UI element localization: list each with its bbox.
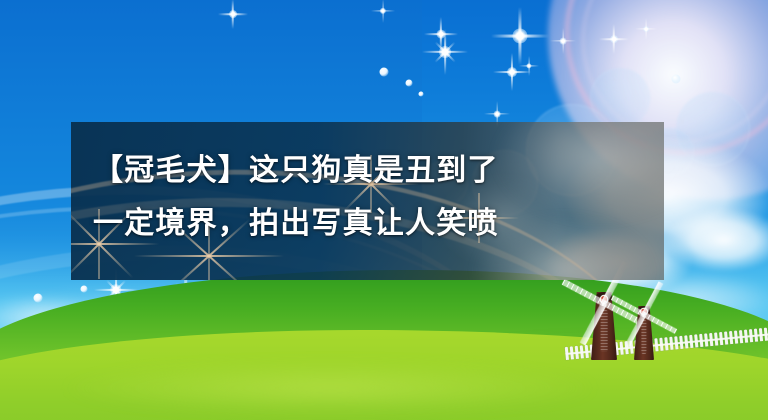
windmill-large xyxy=(591,292,617,360)
windmill-ladder xyxy=(601,310,608,352)
windmill-small xyxy=(634,306,654,360)
headline-text: 【冠毛犬】这只狗真是丑到了 一定境界，拍出写真让人笑喷 xyxy=(71,144,664,250)
windmill-ladder xyxy=(641,320,646,353)
light-dot-6 xyxy=(81,286,88,293)
light-dot-1 xyxy=(380,68,389,77)
grass-highlight xyxy=(61,362,599,414)
article-cover-banner: 【冠毛犬】这只狗真是丑到了 一定境界，拍出写真让人笑喷 xyxy=(0,0,768,420)
headline-backdrop-panel: 【冠毛犬】这只狗真是丑到了 一定境界，拍出写真让人笑喷 xyxy=(71,122,664,280)
light-dot-4 xyxy=(672,75,681,84)
light-dot-5 xyxy=(34,294,43,303)
headline-line-1: 【冠毛犬】这只狗真是丑到了 xyxy=(93,144,642,197)
light-dot-3 xyxy=(419,92,424,97)
light-dot-2 xyxy=(406,80,413,87)
headline-line-2: 一定境界，拍出写真让人笑喷 xyxy=(93,197,642,250)
